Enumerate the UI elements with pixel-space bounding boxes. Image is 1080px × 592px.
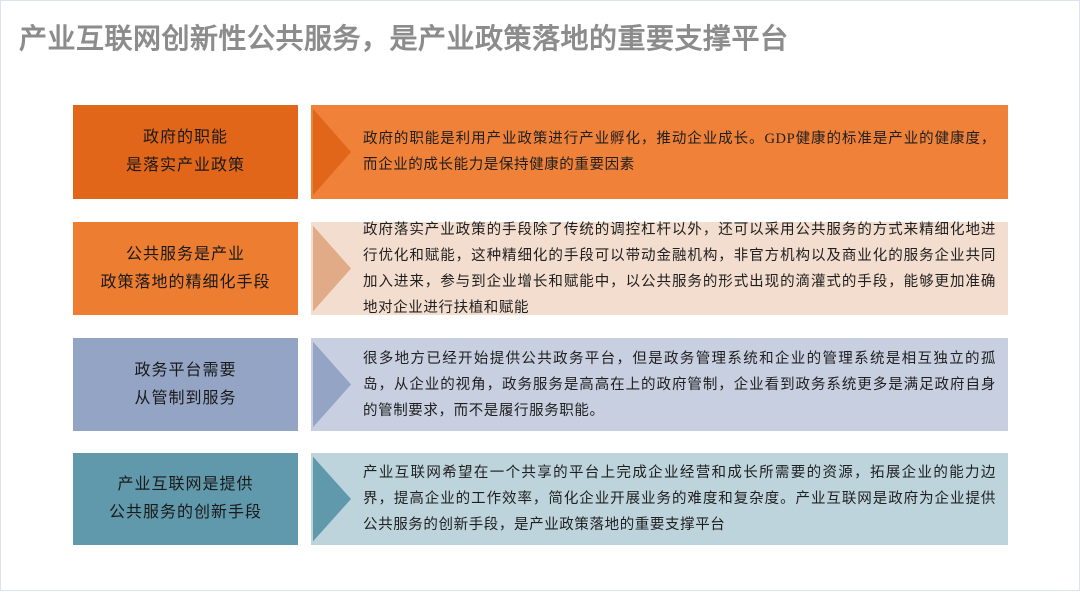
- chevron-right-icon: [311, 105, 353, 199]
- process-row: 政务平台需要 从管制到服务很多地方已经开始提供公共政务平台，但是政务管理系统和企…: [73, 338, 1008, 431]
- row-body-box: 政府落实产业政策的手段除了传统的调控杠杆以外，还可以采用公共服务的方式来精细化地…: [311, 222, 1008, 315]
- row-body-box: 产业互联网希望在一个共享的平台上完成企业经营和成长所需要的资源，拓展企业的能力边…: [311, 453, 1008, 545]
- row-body-text-value: 政府落实产业政策的手段除了传统的调控杠杆以外，还可以采用公共服务的方式来精细化地…: [363, 217, 996, 321]
- process-rows-container: 政府的职能 是落实产业政策政府的职能是利用产业政策进行产业孵化，推动企业成长。G…: [1, 1, 1080, 592]
- row-label-box[interactable]: 政府的职能 是落实产业政策: [73, 105, 298, 199]
- row-body-text-value: 产业互联网希望在一个共享的平台上完成企业经营和成长所需要的资源，拓展企业的能力边…: [363, 460, 996, 538]
- row-body-box: 很多地方已经开始提供公共政务平台，但是政务管理系统和企业的管理系统是相互独立的孤…: [311, 338, 1008, 431]
- row-label-text: 公共服务是产业 政策落地的精细化手段: [100, 241, 270, 297]
- row-body-text-value: 政府的职能是利用产业政策进行产业孵化，推动企业成长。GDP健康的标准是产业的健康…: [363, 126, 996, 178]
- process-row: 政府的职能 是落实产业政策政府的职能是利用产业政策进行产业孵化，推动企业成长。G…: [73, 105, 1008, 199]
- row-body-box: 政府的职能是利用产业政策进行产业孵化，推动企业成长。GDP健康的标准是产业的健康…: [311, 105, 1008, 199]
- chevron-right-icon: [311, 453, 353, 545]
- chevron-right-icon: [311, 222, 353, 315]
- row-label-text: 产业互联网是提供 公共服务的创新手段: [109, 471, 262, 527]
- row-body-text: 政府落实产业政策的手段除了传统的调控杠杆以外，还可以采用公共服务的方式来精细化地…: [363, 222, 996, 315]
- row-label-box[interactable]: 政务平台需要 从管制到服务: [73, 338, 298, 431]
- slide-canvas: 产业互联网创新性公共服务，是产业政策落地的重要支撑平台 政府的职能 是落实产业政…: [0, 0, 1080, 591]
- chevron-right-icon: [311, 338, 353, 431]
- row-label-text: 政务平台需要 从管制到服务: [134, 357, 236, 413]
- process-row: 产业互联网是提供 公共服务的创新手段产业互联网希望在一个共享的平台上完成企业经营…: [73, 453, 1008, 545]
- row-label-box[interactable]: 公共服务是产业 政策落地的精细化手段: [73, 222, 298, 315]
- row-label-text: 政府的职能 是落实产业政策: [126, 124, 245, 180]
- row-body-text-value: 很多地方已经开始提供公共政务平台，但是政务管理系统和企业的管理系统是相互独立的孤…: [363, 346, 996, 424]
- process-row: 公共服务是产业 政策落地的精细化手段政府落实产业政策的手段除了传统的调控杠杆以外…: [73, 222, 1008, 315]
- row-label-box[interactable]: 产业互联网是提供 公共服务的创新手段: [73, 453, 298, 545]
- row-body-text: 很多地方已经开始提供公共政务平台，但是政务管理系统和企业的管理系统是相互独立的孤…: [363, 338, 996, 431]
- row-body-text: 政府的职能是利用产业政策进行产业孵化，推动企业成长。GDP健康的标准是产业的健康…: [363, 105, 996, 199]
- row-body-text: 产业互联网希望在一个共享的平台上完成企业经营和成长所需要的资源，拓展企业的能力边…: [363, 453, 996, 545]
